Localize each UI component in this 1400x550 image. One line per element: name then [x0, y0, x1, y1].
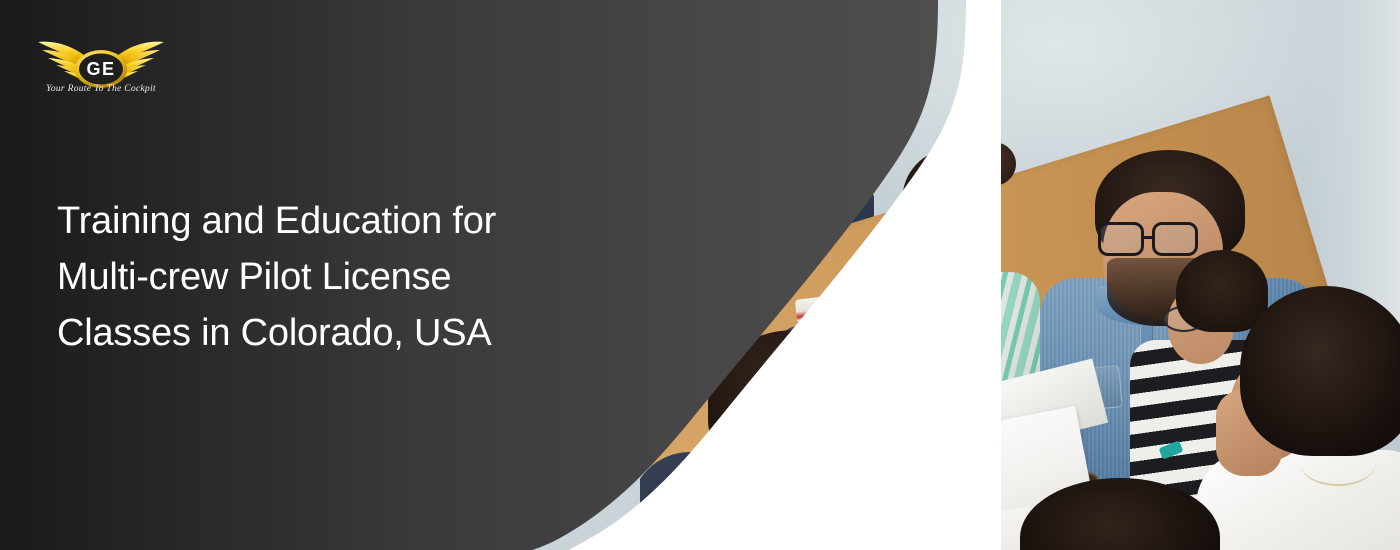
logo-monogram: GE — [86, 59, 115, 79]
title-line-1: Training and Education for — [57, 200, 496, 242]
logo-tagline: Your Route To The Cockpit — [36, 84, 166, 94]
title-line-3: Classes in Colorado, USA — [57, 312, 492, 354]
title-line-2: Multi-crew Pilot License — [57, 256, 451, 298]
page-banner: GE Your Route To The Cockpit Training an… — [0, 0, 1400, 550]
page-title: Training and Education for Multi-crew Pi… — [57, 193, 657, 361]
